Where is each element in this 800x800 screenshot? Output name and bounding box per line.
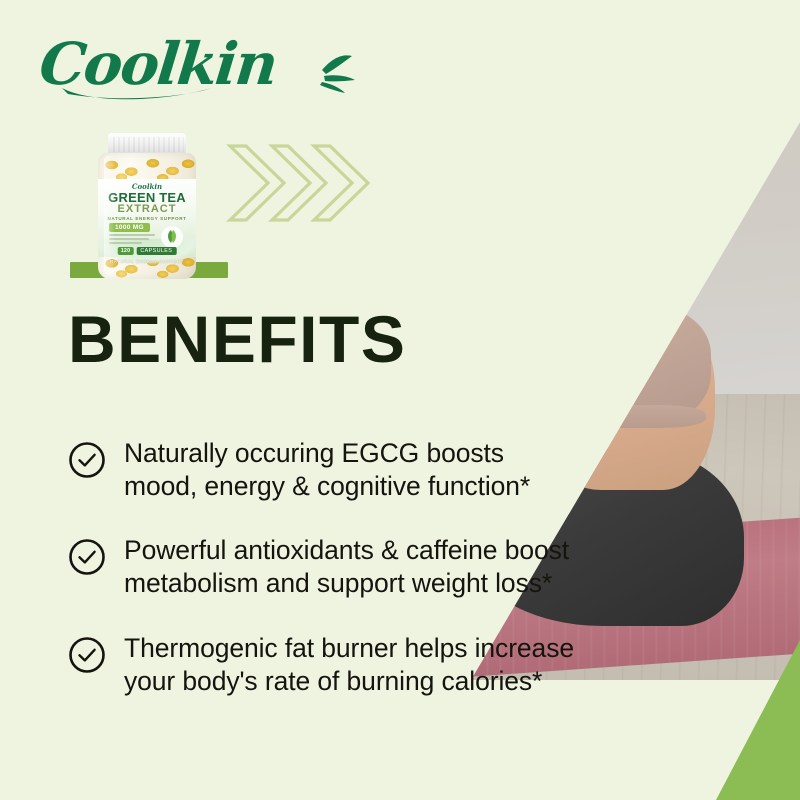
bottle-cap	[108, 133, 186, 155]
label-dosage-badge: 1000 MG	[109, 223, 150, 232]
label-footer-text: NATURAL ENERGY SUPPORT	[98, 259, 196, 264]
benefits-list: Naturally occuring EGCG boosts mood, ene…	[68, 437, 648, 729]
chevron-decoration-group	[224, 138, 374, 228]
page-title: BENEFITS	[68, 306, 406, 372]
benefit-text: Naturally occuring EGCG boosts mood, ene…	[124, 437, 530, 503]
check-circle-icon	[68, 636, 106, 674]
label-count-unit: CAPSULES	[136, 247, 176, 255]
chevron-right-icon	[230, 146, 284, 220]
benefit-text: Thermogenic fat burner helps increase yo…	[124, 632, 574, 698]
check-circle-icon	[68, 441, 106, 479]
label-count-number: 120	[118, 247, 134, 255]
benefit-text: Powerful antioxidants & caffeine boost m…	[124, 534, 569, 600]
list-item: Powerful antioxidants & caffeine boost m…	[68, 534, 648, 600]
brand-logo-text: Coolkin	[36, 30, 279, 98]
list-item: Thermogenic fat burner helps increase yo…	[68, 632, 648, 698]
label-body-copy-lines	[109, 234, 155, 246]
label-count-group: 120 CAPSULES	[118, 247, 177, 255]
benefit-line-2: mood, energy & cognitive function*	[124, 471, 530, 501]
bottle-label: Coolkin GREEN TEA EXTRACT NATURAL ENERGY…	[98, 179, 196, 257]
brand-logo[interactable]: Coolkin	[22, 26, 362, 104]
label-tagline: NATURAL ENERGY SUPPORT	[98, 216, 196, 221]
label-tea-leaf-icon	[158, 225, 186, 249]
list-item: Naturally occuring EGCG boosts mood, ene…	[68, 437, 648, 503]
bottle-body: Coolkin GREEN TEA EXTRACT NATURAL ENERGY…	[98, 153, 196, 279]
benefit-line-1: Thermogenic fat burner helps increase	[124, 633, 574, 663]
benefit-line-2: your body's rate of burning calories*	[124, 666, 542, 696]
product-bottle[interactable]: Coolkin GREEN TEA EXTRACT NATURAL ENERGY…	[88, 133, 206, 281]
benefit-line-1: Powerful antioxidants & caffeine boost	[124, 535, 569, 565]
label-product-title-second: EXTRACT	[98, 204, 196, 215]
check-circle-icon	[68, 538, 106, 576]
chevron-right-icon	[314, 146, 368, 220]
product-benefits-banner: Coolkin Coolkin GREEN TEA EXTRA	[0, 0, 800, 800]
benefit-line-2: metabolism and support weight loss*	[124, 568, 552, 598]
benefit-line-1: Naturally occuring EGCG boosts	[124, 438, 504, 468]
chevron-right-icon	[272, 146, 326, 220]
